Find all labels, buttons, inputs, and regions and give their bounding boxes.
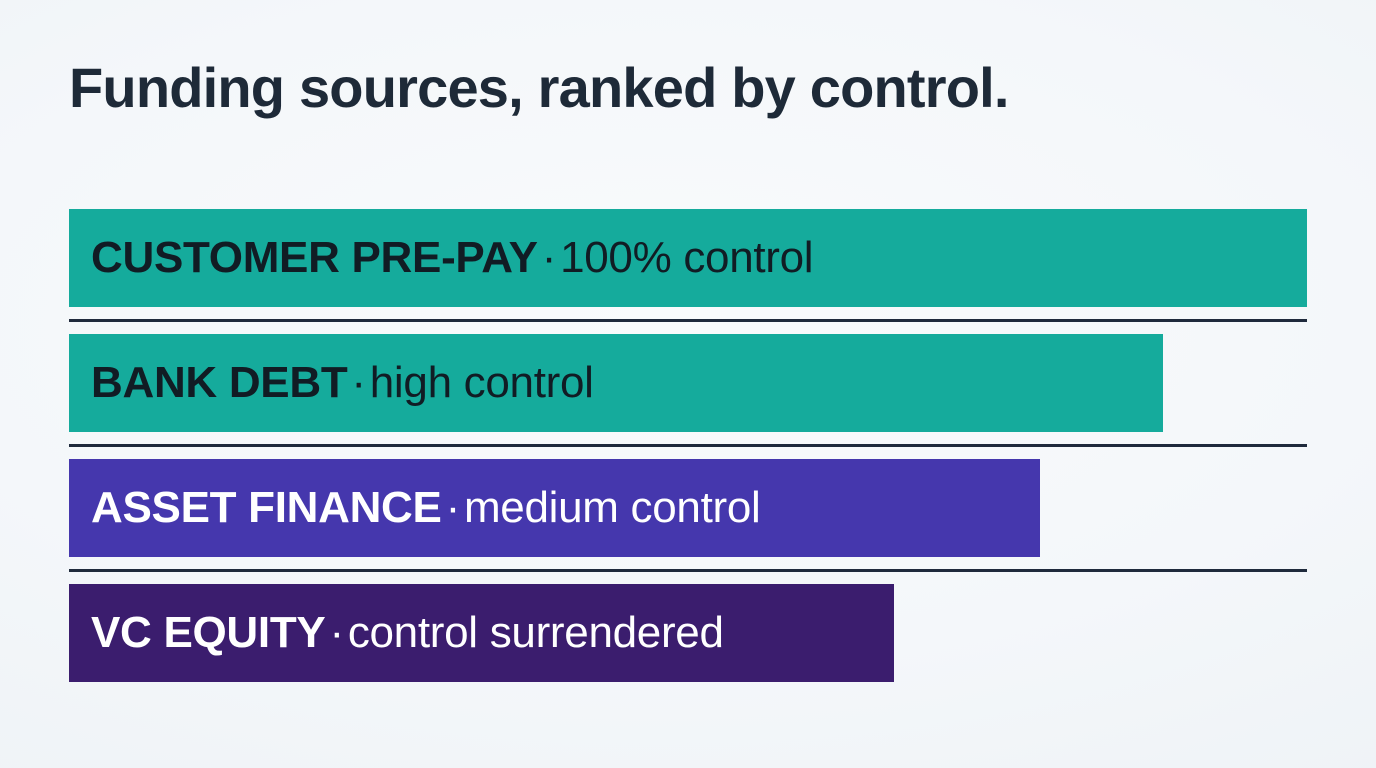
bar-customer-pre-pay[interactable]: CUSTOMER PRE-PAY·100% control — [69, 209, 1307, 307]
slide-canvas: Funding sources, ranked by control. CUST… — [0, 0, 1376, 768]
bar-separator: · — [538, 233, 560, 282]
rank-row: VC EQUITY·control surrendered — [0, 584, 1376, 682]
bar-label: VC EQUITY — [91, 608, 325, 657]
bar-descriptor: 100% control — [560, 233, 813, 282]
bar-text: CUSTOMER PRE-PAY·100% control — [91, 236, 813, 280]
bar-label: CUSTOMER PRE-PAY — [91, 233, 538, 282]
bar-bank-debt[interactable]: BANK DEBT·high control — [69, 334, 1163, 432]
bar-separator: · — [442, 483, 464, 532]
bar-separator: · — [325, 608, 347, 657]
rank-row: CUSTOMER PRE-PAY·100% control — [0, 209, 1376, 334]
bar-descriptor: control surrendered — [348, 608, 724, 657]
bar-label: ASSET FINANCE — [91, 483, 442, 532]
rank-row: BANK DEBT·high control — [0, 334, 1376, 459]
bar-label: BANK DEBT — [91, 358, 347, 407]
funding-rank-list: CUSTOMER PRE-PAY·100% control BANK DEBT·… — [0, 209, 1376, 682]
bar-descriptor: medium control — [464, 483, 761, 532]
rank-row: ASSET FINANCE·medium control — [0, 459, 1376, 584]
bar-descriptor: high control — [370, 358, 594, 407]
bar-text: ASSET FINANCE·medium control — [91, 486, 761, 530]
bar-vc-equity[interactable]: VC EQUITY·control surrendered — [69, 584, 894, 682]
page-title: Funding sources, ranked by control. — [69, 56, 1009, 120]
bar-text: VC EQUITY·control surrendered — [91, 611, 724, 655]
bar-separator: · — [347, 358, 369, 407]
bar-asset-finance[interactable]: ASSET FINANCE·medium control — [69, 459, 1040, 557]
bar-text: BANK DEBT·high control — [91, 361, 594, 405]
